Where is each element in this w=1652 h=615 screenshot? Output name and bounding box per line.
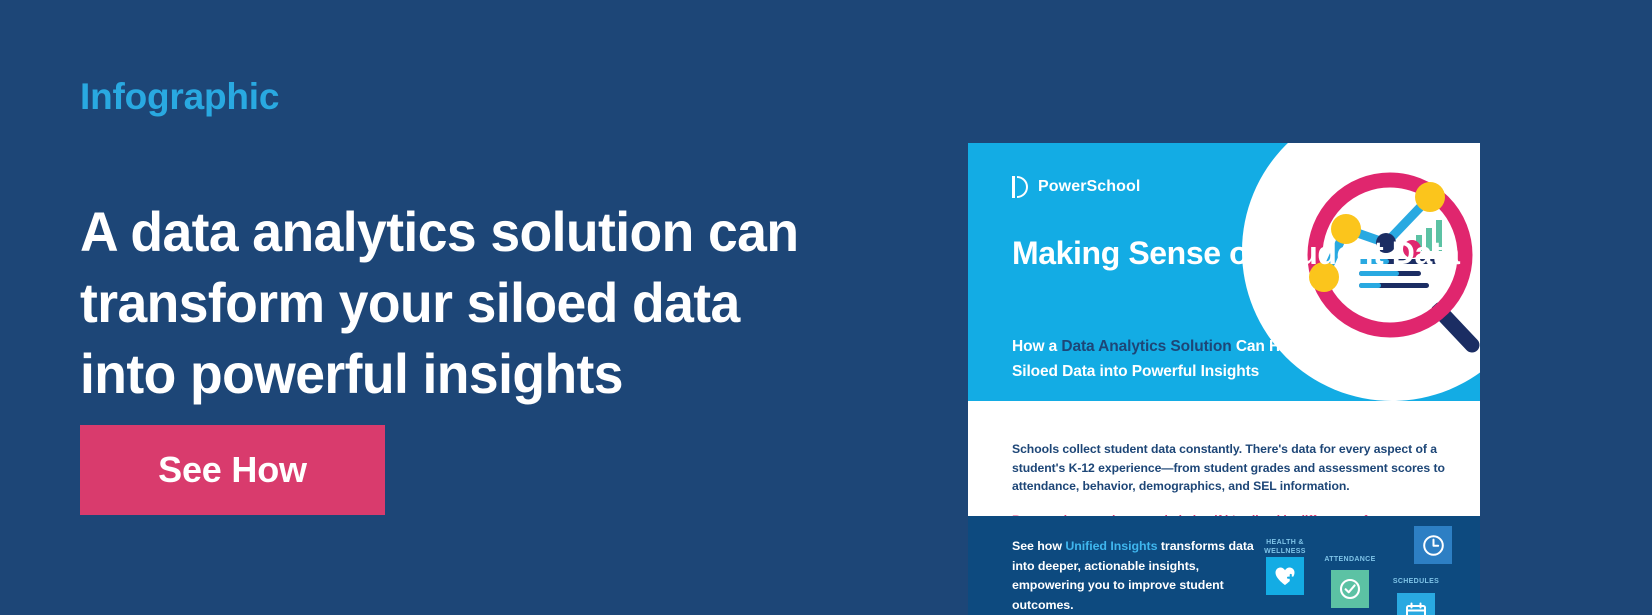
card-subtitle-accent: Data Analytics Solution	[1061, 338, 1231, 355]
calendar-icon	[1405, 602, 1427, 615]
card-subtitle: How a Data Analytics Solution Can Help Y…	[1012, 335, 1432, 385]
footer-accent-unified-insights: Unified Insights	[1065, 539, 1157, 553]
card-body-paragraph: Schools collect student data constantly.…	[1012, 440, 1450, 496]
card-body: Schools collect student data constantly.…	[968, 401, 1480, 516]
card-hero: PowerSchool Making Sense of Student Data…	[968, 143, 1480, 401]
powerschool-p-icon	[1012, 176, 1031, 198]
card-footer: See how Unified Insights transforms data…	[968, 516, 1480, 615]
page-title: A data analytics solution can transform …	[80, 196, 844, 409]
tile-health-wellness-label: HEALTH & WELLNESS	[1259, 539, 1311, 557]
card-footer-text: See how Unified Insights transforms data…	[1012, 537, 1262, 615]
tile-attendance-box	[1331, 570, 1369, 608]
promo-text-column: Infographic A data analytics solution ca…	[80, 0, 900, 615]
tile-health-wellness-box	[1266, 557, 1304, 595]
heart-plus-icon	[1274, 566, 1296, 586]
promo-banner: Infographic A data analytics solution ca…	[0, 0, 1652, 615]
infographic-preview-card[interactable]: PowerSchool Making Sense of Student Data…	[968, 143, 1480, 615]
check-circle-icon	[1339, 578, 1361, 600]
tile-schedules-box	[1397, 593, 1435, 615]
clock-icon	[1422, 534, 1445, 557]
tile-attendance-label: ATTENDANCE	[1323, 556, 1377, 565]
footer-part1: See how	[1012, 539, 1065, 553]
see-how-button[interactable]: See How	[80, 425, 385, 515]
card-title: Making Sense of Student Data	[1012, 233, 1460, 273]
powerschool-logo: PowerSchool	[1012, 176, 1140, 198]
powerschool-wordmark: PowerSchool	[1038, 178, 1140, 196]
content-type-eyebrow: Infographic	[80, 78, 279, 115]
tile-schedules-label: SCHEDULES	[1390, 578, 1442, 587]
card-subtitle-part1: How a	[1012, 338, 1061, 355]
tile-clock-box	[1414, 526, 1452, 564]
